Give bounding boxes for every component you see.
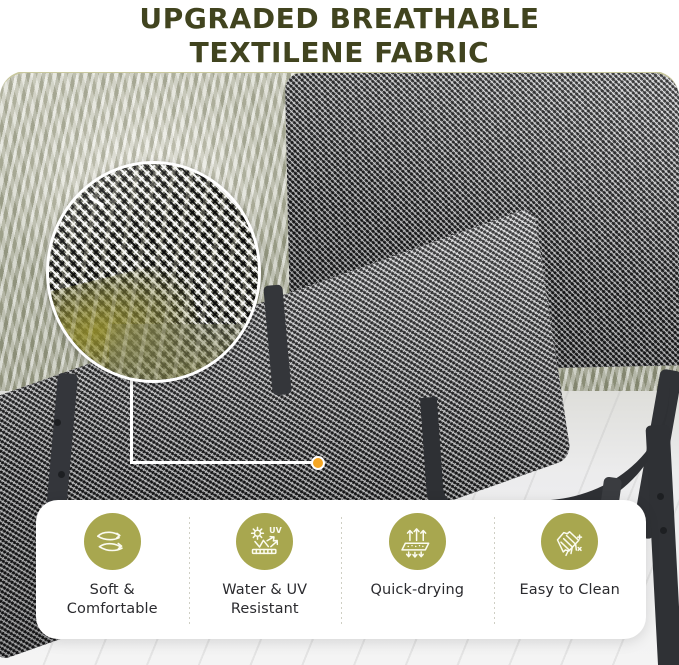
pointer-line-horizontal [130, 461, 320, 464]
frame-rivet [54, 419, 61, 426]
feature-label: Quick-drying [370, 581, 464, 600]
headline-line-2: TEXTILENE FABRIC [190, 36, 490, 70]
feature-water-uv-resistant: UV Water & UV Resistant [189, 500, 342, 639]
frame-rivet [657, 493, 664, 500]
fabric-weave-magnifier [46, 161, 261, 383]
headline-block: UPGRADED BREATHABLE TEXTILENE FABRIC [0, 0, 679, 72]
quick-drying-airflow-icon [389, 513, 446, 570]
pointer-dot [311, 456, 325, 470]
feature-quick-drying: Quick-drying [341, 500, 494, 639]
frame-rivet [58, 471, 65, 478]
hand-wiping-cloth-sparkle-icon [541, 513, 598, 570]
feature-easy-to-clean: Easy to Clean [494, 500, 647, 639]
feature-label: Easy to Clean [520, 581, 620, 600]
product-feature-graphic: UPGRADED BREATHABLE TEXTILENE FABRIC [0, 0, 679, 665]
feature-label: Soft & Comfortable [67, 581, 158, 619]
feature-label: Water & UV Resistant [222, 581, 307, 619]
svg-text:UV: UV [269, 525, 282, 534]
headline-line-1: UPGRADED BREATHABLE [139, 2, 539, 36]
hands-soft-icon [84, 513, 141, 570]
magnifier-glass-gloss [49, 164, 258, 380]
frame-rivet [660, 527, 667, 534]
feature-highlights-card: Soft & Comfortable UV Water & UV Resista… [36, 500, 646, 639]
feature-soft-comfortable: Soft & Comfortable [36, 500, 189, 639]
sun-uv-water-resistant-icon: UV [236, 513, 293, 570]
